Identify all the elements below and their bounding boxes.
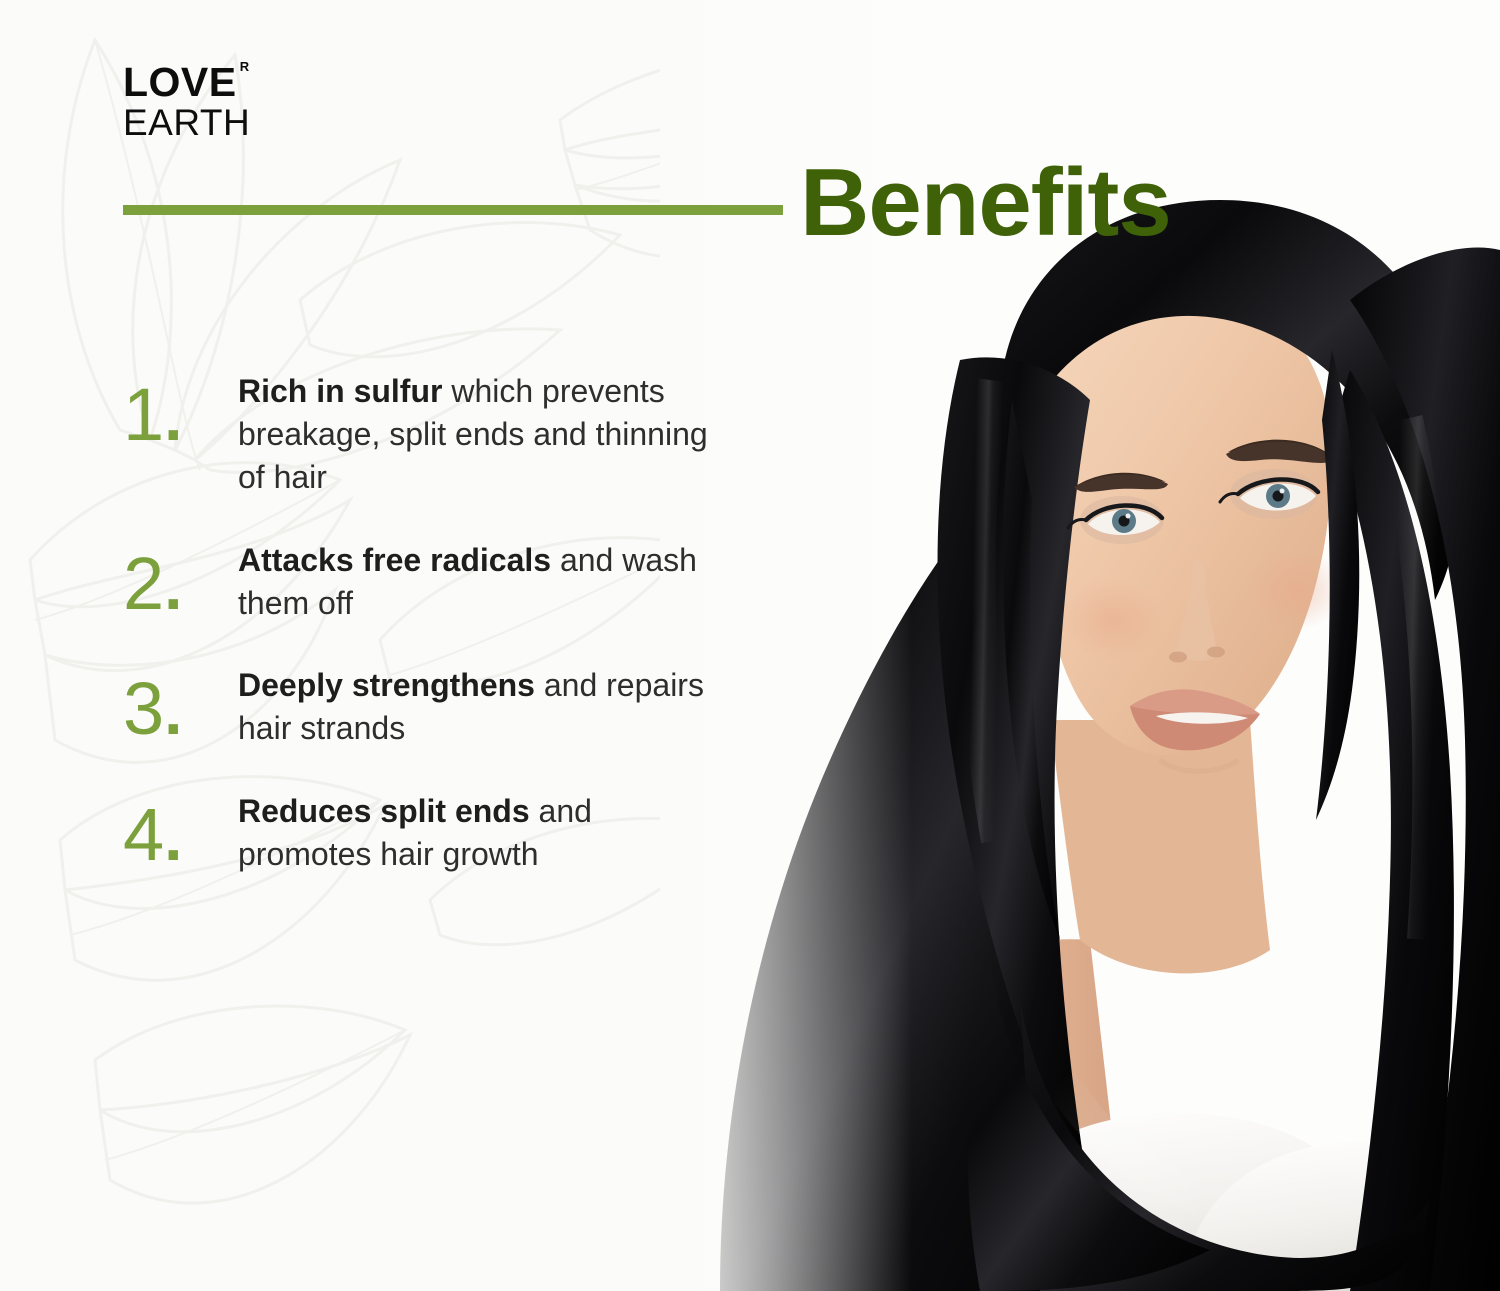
benefit-number-1: 1.	[123, 378, 238, 452]
benefit-lead-3: Deeply strengthens	[238, 667, 535, 703]
benefit-number-3-dot: .	[164, 674, 182, 748]
benefit-lead-4: Reduces split ends	[238, 793, 530, 829]
registered-trademark-icon: R	[240, 60, 250, 73]
benefit-number-3: 3.	[123, 672, 238, 746]
title-rule-divider	[123, 205, 783, 215]
benefit-item-4: 4. Reduces split ends and promotes hair …	[123, 788, 723, 876]
benefit-item-1: 1. Rich in sulfur which prevents breakag…	[123, 368, 723, 499]
page-title: Benefits	[800, 155, 1171, 251]
brand-name-love: LOVE R	[123, 62, 237, 103]
benefit-number-2-dot: .	[164, 549, 182, 623]
benefit-number-2-digit: 2	[123, 542, 164, 625]
benefit-item-3: 3. Deeply strengthens and repairs hair s…	[123, 662, 723, 750]
benefit-number-4-dot: .	[164, 800, 182, 874]
benefit-number-2: 2.	[123, 547, 238, 621]
benefits-list: 1. Rich in sulfur which prevents breakag…	[123, 368, 723, 876]
benefit-text-1: Rich in sulfur which prevents breakage, …	[238, 368, 723, 499]
benefit-number-3-digit: 3	[123, 667, 164, 750]
benefits-poster: LOVE R EARTH Benefits 1. Rich in sulfur …	[0, 0, 1500, 1291]
benefit-number-1-dot: .	[164, 380, 182, 454]
benefit-item-2: 2. Attacks free radicals and wash them o…	[123, 537, 723, 625]
benefit-lead-2: Attacks free radicals	[238, 542, 551, 578]
benefit-text-3: Deeply strengthens and repairs hair stra…	[238, 662, 723, 750]
benefit-number-1-digit: 1	[123, 373, 164, 456]
benefit-number-4: 4.	[123, 798, 238, 872]
brand-logo: LOVE R EARTH	[123, 62, 250, 141]
benefit-number-4-digit: 4	[123, 793, 164, 876]
benefit-text-2: Attacks free radicals and wash them off	[238, 537, 723, 625]
brand-name-earth: EARTH	[123, 104, 250, 141]
benefit-lead-1: Rich in sulfur	[238, 373, 442, 409]
brand-love-text: LOVE	[123, 59, 237, 105]
benefit-text-4: Reduces split ends and promotes hair gro…	[238, 788, 723, 876]
